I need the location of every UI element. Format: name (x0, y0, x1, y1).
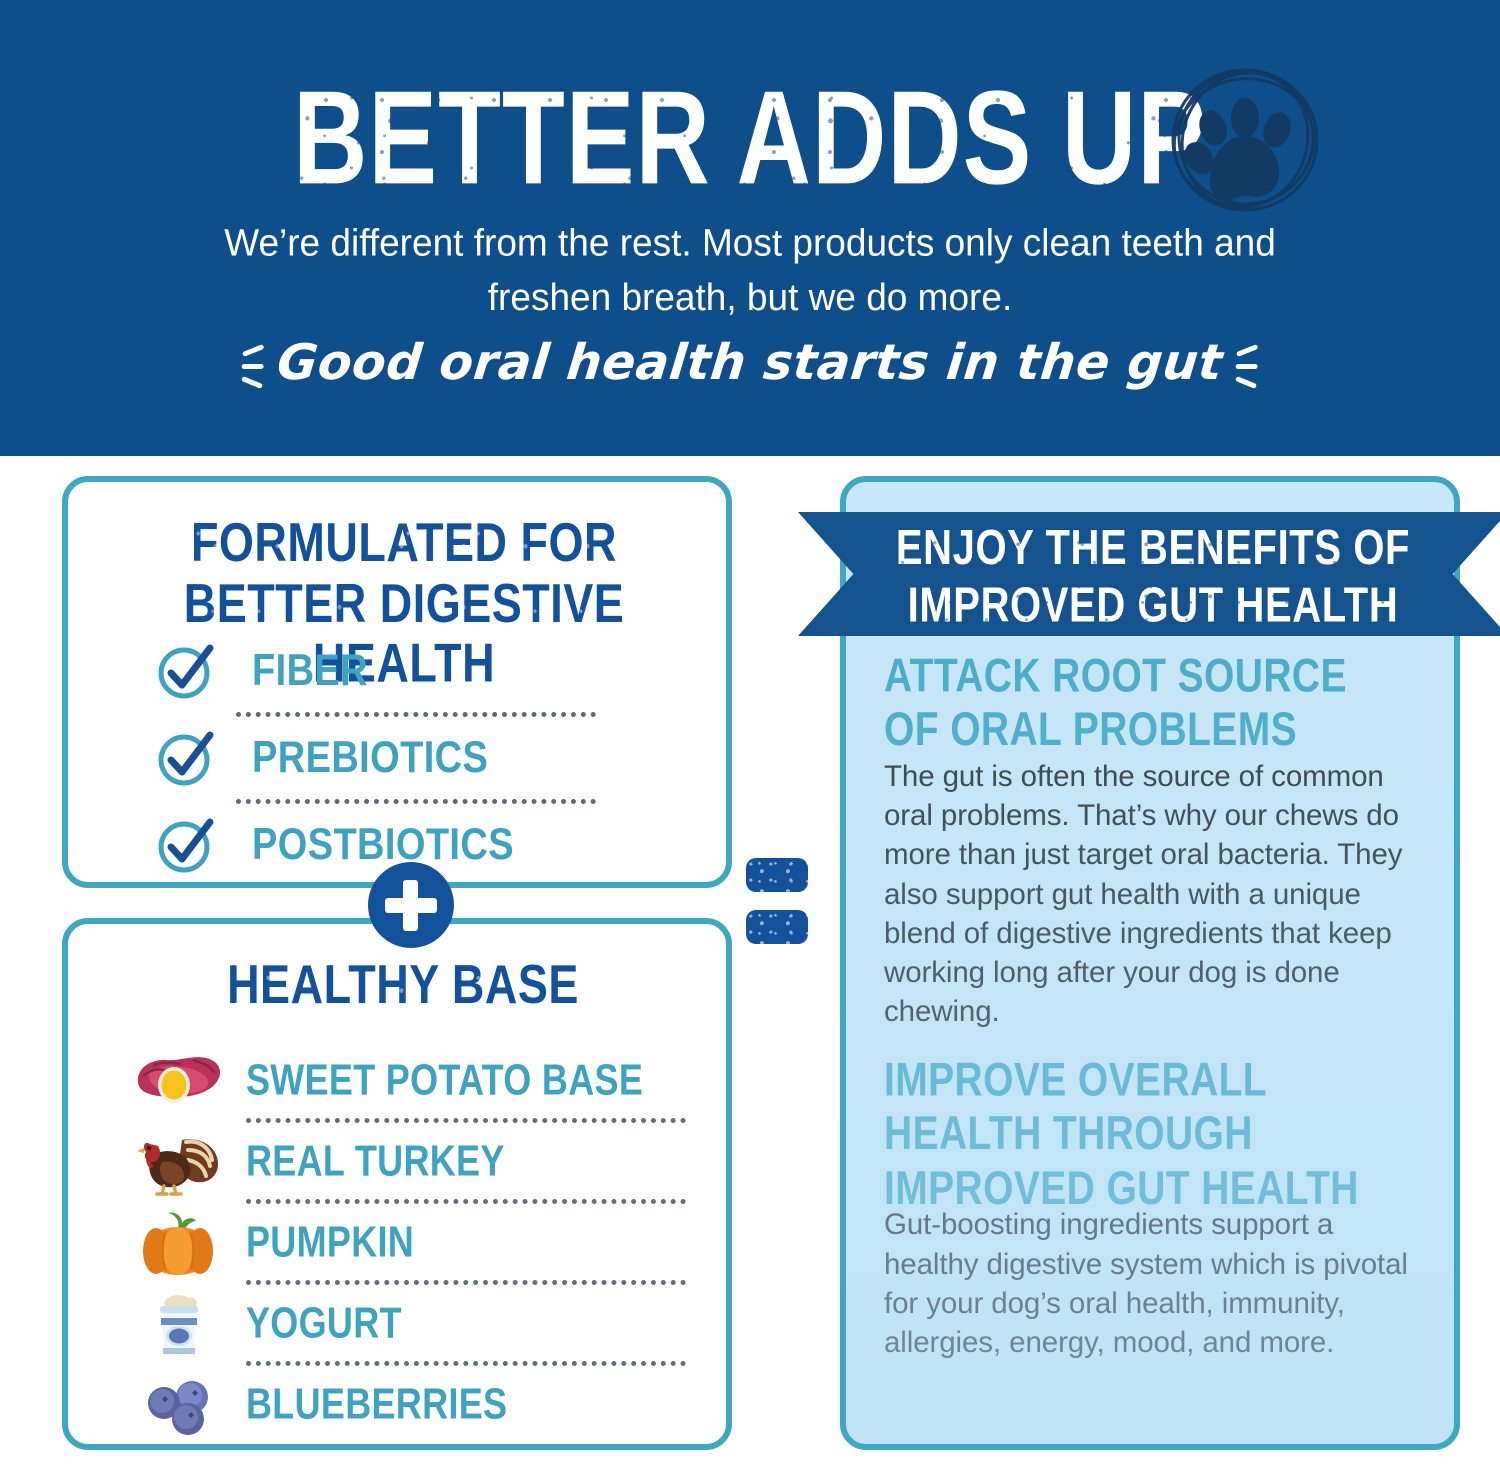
plus-icon (368, 862, 454, 948)
benefit-body: The gut is often the source of common or… (884, 757, 1424, 1032)
header-script-line: Good oral health starts in the gut (0, 334, 1500, 391)
list-item: BLUEBERRIES (68, 1366, 738, 1442)
blueberries-icon (130, 1369, 226, 1439)
decorative-dash-left (238, 344, 266, 388)
check-circle-icon (156, 641, 216, 701)
list-item: PREBIOTICS (68, 717, 738, 799)
list-item-label: POSTBIOTICS (252, 820, 514, 871)
benefit-heading: ATTACK ROOT SOURCE OF ORAL PROBLEMS (884, 650, 1424, 758)
list-item: PUMPKIN (68, 1204, 738, 1280)
sweet-potato-icon (130, 1045, 226, 1115)
healthy-base-card: HEALTHY BASE SWEET POTATO BA (62, 918, 732, 1450)
list-item: FIBER (68, 630, 738, 712)
turkey-icon (130, 1126, 226, 1196)
list-item-label: PREBIOTICS (252, 733, 488, 784)
benefit-block-attack-root-source: ATTACK ROOT SOURCE OF ORAL PROBLEMS The … (884, 650, 1424, 1032)
benefit-heading: IMPROVE OVERALL HEALTH THROUGH IMPROVED … (884, 1054, 1424, 1217)
healthy-base-heading: HEALTHY BASE (68, 954, 738, 1014)
check-circle-icon (156, 815, 216, 875)
list-item-label: BLUEBERRIES (246, 1379, 507, 1429)
pumpkin-icon (130, 1207, 226, 1277)
benefits-ribbon: ENJOY THE BENEFITS OF IMPROVED GUT HEALT… (798, 512, 1500, 636)
decorative-dash-right (1233, 344, 1261, 388)
list-item: REAL TURKEY (68, 1123, 738, 1199)
list-item: SWEET POTATO BASE (68, 1042, 738, 1118)
formulated-list: FIBER PREBIOTICS (68, 630, 738, 886)
infographic-root: BETTER ADDS UP We’re different (0, 0, 1500, 1464)
ribbon-title: ENJOY THE BENEFITS OF IMPROVED GUT HEALT… (798, 520, 1500, 635)
benefit-block-improve-overall-health: IMPROVE OVERALL HEALTH THROUGH IMPROVED … (884, 1054, 1424, 1362)
list-item: YOGURT (68, 1285, 738, 1361)
paw-print-icon (1163, 58, 1327, 222)
script-text: Good oral health starts in the gut (275, 334, 1226, 391)
list-item-label: PUMPKIN (246, 1217, 414, 1267)
healthy-base-list: SWEET POTATO BASE (68, 1042, 738, 1442)
list-item-label: FIBER (252, 646, 368, 697)
list-item-label: YOGURT (246, 1298, 402, 1348)
benefit-body: Gut-boosting ingredients support a healt… (884, 1205, 1424, 1362)
check-circle-icon (156, 728, 216, 788)
formulated-card: FORMULATED FOR BETTER DIGESTIVE HEALTH F… (62, 476, 732, 888)
list-item-label: SWEET POTATO BASE (246, 1055, 643, 1105)
yogurt-cup-icon (130, 1288, 226, 1358)
header-banner: BETTER ADDS UP We’re different (0, 0, 1500, 456)
header-subtitle: We’re different from the rest. Most prod… (170, 216, 1330, 324)
list-item-label: REAL TURKEY (246, 1136, 505, 1186)
equals-sign-icon (746, 858, 808, 954)
